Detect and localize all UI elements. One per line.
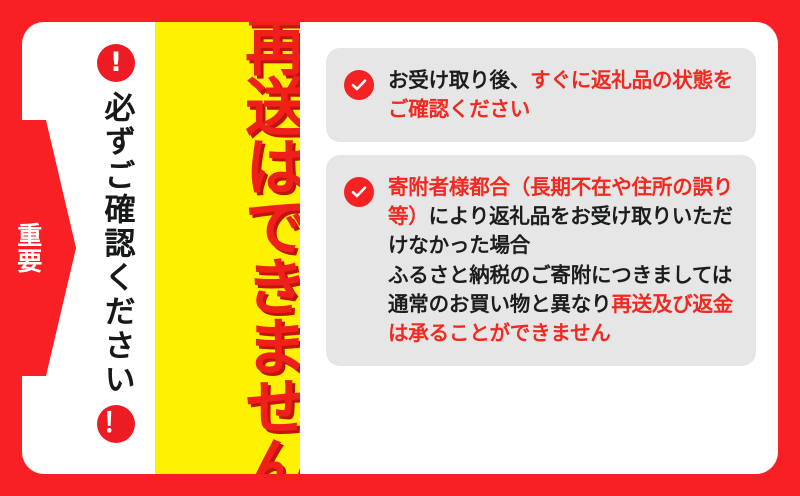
headline-text: 再送はできません <box>155 22 300 474</box>
important-notice-banner: 重要 ! 必ずご確認ください ！ 再送はできません お受け取り後、すぐに返礼品の… <box>0 0 800 496</box>
warning-text: 必ずご確認ください <box>101 91 132 397</box>
notes-column: お受け取り後、すぐに返礼品の状態をご確認ください 寄附者様都合（長期不在や住所の… <box>304 22 778 474</box>
warning-column: ! 必ずご確認ください ！ <box>78 22 154 474</box>
note-text: 寄附者様都合（長期不在や住所の誤り等）により返礼品をお受け取りいただけなかった場… <box>388 173 736 348</box>
yellow-band: 再送はできません <box>155 22 300 474</box>
note-text: お受け取り後、すぐに返礼品の状態をご確認ください <box>388 66 736 124</box>
important-ribbon: 重要 <box>0 120 76 376</box>
note-card: 寄附者様都合（長期不在や住所の誤り等）により返礼品をお受け取りいただけなかった場… <box>326 155 756 366</box>
check-circle-icon <box>344 177 374 207</box>
note-segment: により返礼品をお受け取りいただけなかった場合 <box>388 204 733 257</box>
exclamation-badge-bottom: ！ <box>97 405 135 443</box>
exclamation-badge-top: ! <box>97 44 135 82</box>
note-card: お受け取り後、すぐに返礼品の状態をご確認ください <box>326 48 756 142</box>
check-circle-icon <box>344 70 374 100</box>
note-segment: お受け取り後、 <box>388 68 530 92</box>
ribbon-label: 重要 <box>8 120 48 376</box>
